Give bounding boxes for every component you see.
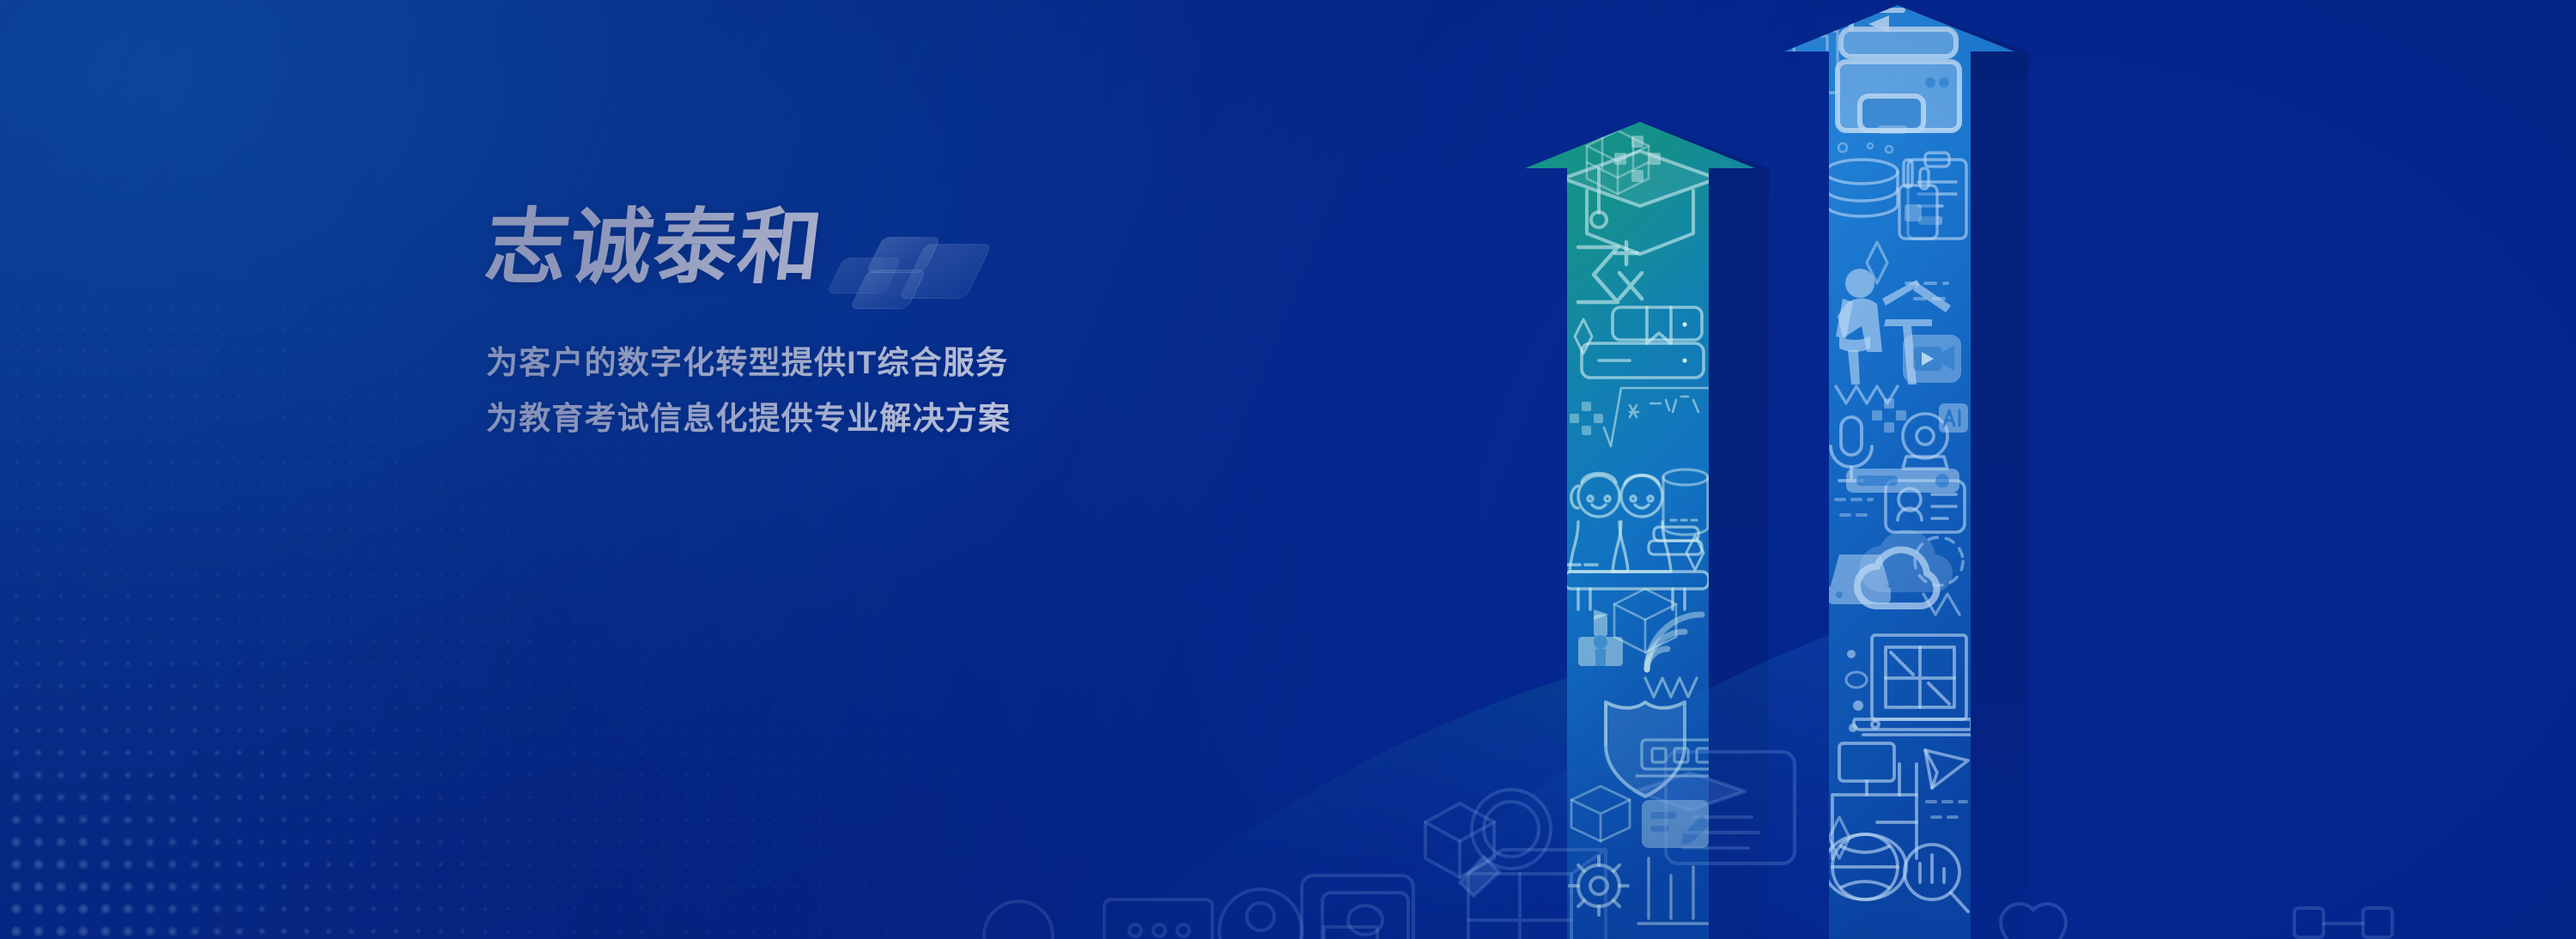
hero-banner: 志诚泰和 为客户的数字化转型提供IT综合服务 为教育考试信息化提供专业解决方案 bbox=[0, 0, 2576, 939]
background-vignette bbox=[0, 0, 2576, 939]
